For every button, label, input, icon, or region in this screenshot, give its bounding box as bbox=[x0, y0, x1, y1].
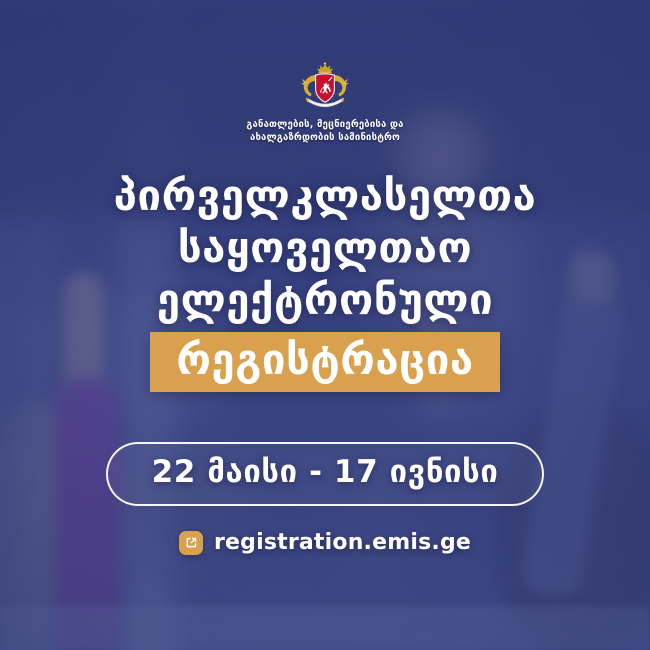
headline-highlight-registration: რეგისტრაცია bbox=[150, 332, 499, 392]
ministry-name: განათლების, მეცნიერებისა და ახალგაზრდობი… bbox=[246, 119, 403, 144]
registration-url-label[interactable]: registration.emis.ge bbox=[214, 530, 471, 555]
georgia-coat-of-arms-icon bbox=[299, 62, 351, 112]
external-link-icon[interactable] bbox=[179, 531, 203, 555]
registration-url-row[interactable]: registration.emis.ge bbox=[179, 530, 471, 555]
ministry-branding: განათლების, მეცნიერებისა და ახალგაზრდობი… bbox=[246, 62, 403, 144]
headline-line-3: ელექტრონული bbox=[0, 274, 650, 326]
headline-line-1: პირველკლასელთა bbox=[0, 170, 650, 222]
headline-line-2: საყოველთაო bbox=[0, 222, 650, 274]
ministry-name-line1: განათლების, მეცნიერებისა და bbox=[246, 119, 403, 132]
registration-poster: განათლების, მეცნიერებისა და ახალგაზრდობი… bbox=[0, 0, 650, 650]
date-range-badge: 22 მაისი - 17 ივნისი bbox=[106, 442, 545, 506]
headline-block: პირველკლასელთა საყოველთაო ელექტრონული რე… bbox=[0, 170, 650, 392]
ministry-name-line2: ახალგაზრდობის სამინისტრო bbox=[246, 132, 403, 145]
poster-content: განათლების, მეცნიერებისა და ახალგაზრდობი… bbox=[0, 0, 650, 650]
